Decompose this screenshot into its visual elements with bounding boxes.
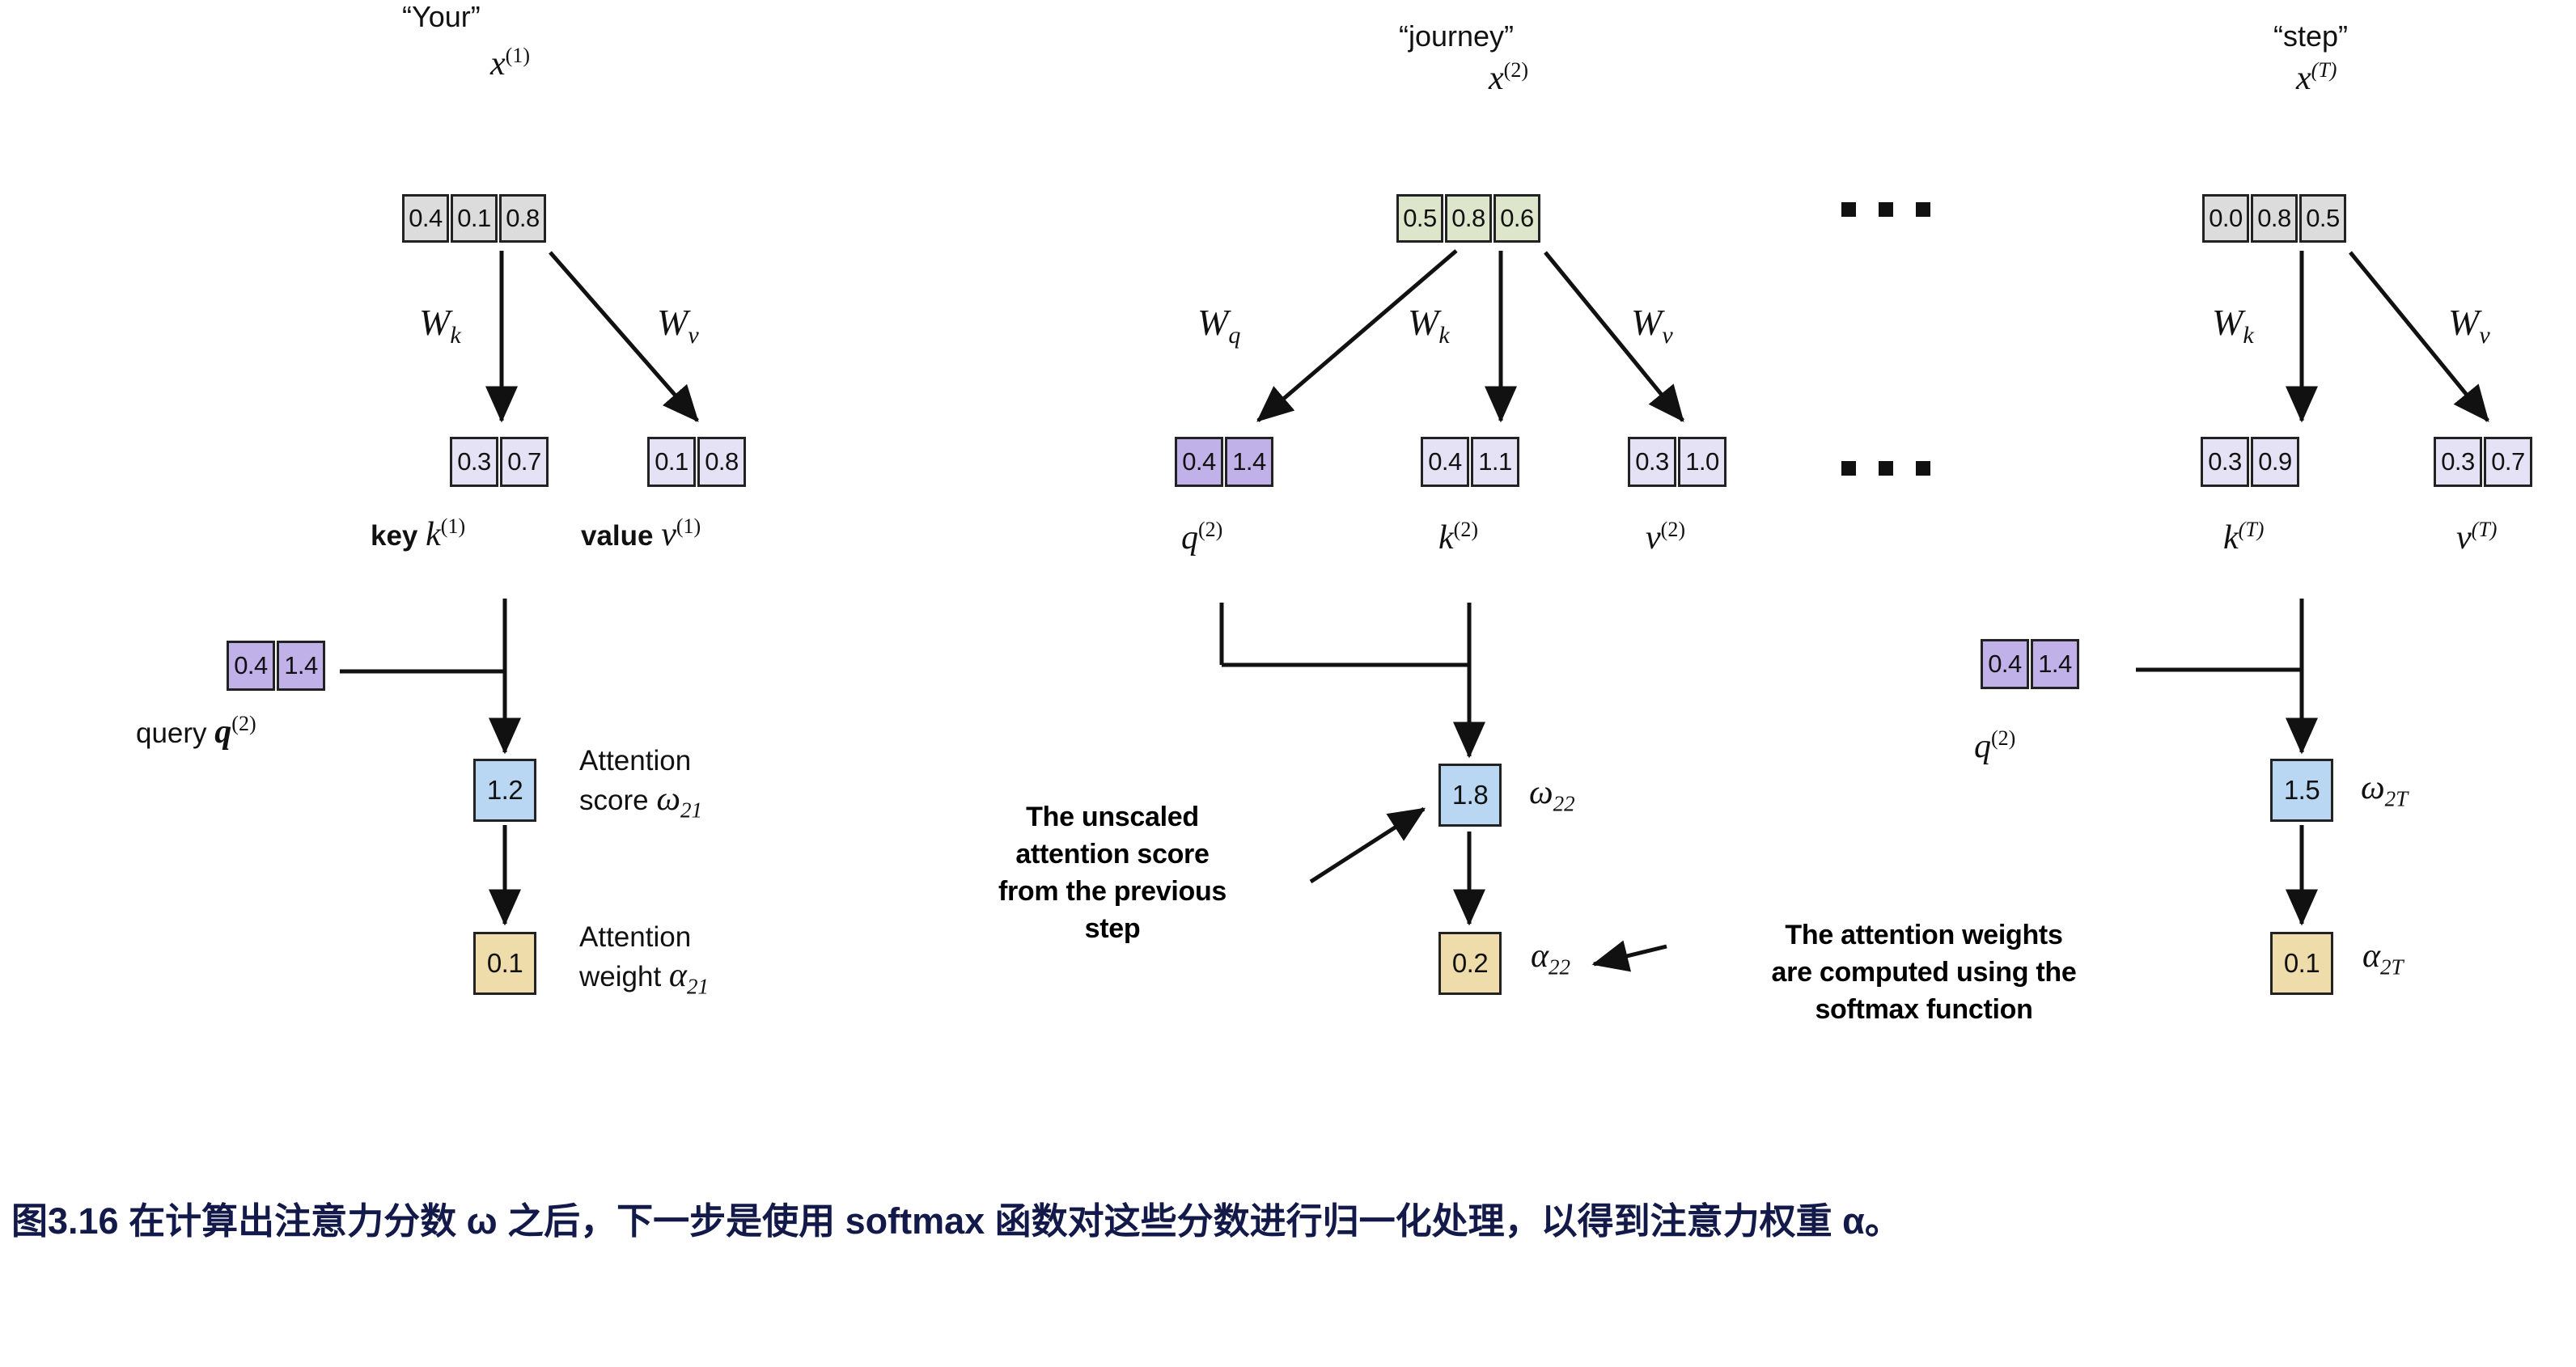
figure-canvas: “Your” x(1) 0.4 0.1 0.8 Wk Wv 0.3 0.7 0.… [0, 0, 2576, 1367]
attention-weight-box-3: 0.1 [2270, 932, 2333, 995]
attention-weight-box-1: 0.1 [473, 932, 536, 995]
value-vector-1: 0.1 0.8 [647, 437, 746, 487]
value-cell: 0.1 [647, 437, 696, 487]
input-cell: 0.4 [402, 194, 449, 243]
query-label-3: q(2) [1974, 726, 2015, 766]
weight-cell: 0.1 [473, 932, 536, 995]
query-vector-2: 0.4 1.4 [1175, 437, 1273, 487]
input-cell: 0.5 [2299, 194, 2346, 243]
key-cell: 0.3 [2201, 437, 2249, 487]
query-label-2: q(2) [1181, 518, 1222, 557]
input-cell: 0.5 [1396, 194, 1443, 243]
key-vector-3: 0.3 0.9 [2201, 437, 2299, 487]
ellipsis-dot [1879, 202, 1893, 217]
input-cell: 0.8 [1445, 194, 1492, 243]
key-label-3: k(T) [2223, 518, 2264, 557]
score-cell: 1.8 [1438, 764, 1502, 827]
weight-matrix-wk-3: Wk [2212, 301, 2254, 349]
input-symbol-1: x(1) [490, 44, 530, 83]
input-symbol-3: x(T) [2296, 58, 2337, 98]
ellipsis-dot [1879, 461, 1893, 476]
value-label-1: value v(1) [581, 514, 701, 554]
ellipsis-mid [1841, 461, 1930, 476]
weight-caption-1: Attention weight α21 [579, 921, 709, 1000]
attention-score-box-2: 1.8 [1438, 764, 1502, 827]
value-vector-3: 0.3 0.7 [2434, 437, 2532, 487]
query-vector-1: 0.4 1.4 [227, 641, 325, 691]
key-cell: 0.7 [500, 437, 549, 487]
weight-matrix-wk-2: Wk [1408, 301, 1450, 349]
omega-symbol-2: ω22 [1529, 773, 1575, 816]
value-cell: 0.7 [2484, 437, 2532, 487]
omega-symbol-1: ω21 [656, 781, 702, 818]
query-vector-3: 0.4 1.4 [1981, 639, 2079, 689]
weight-matrix-wq-2: Wq [1197, 301, 1240, 349]
input-cell: 0.0 [2202, 194, 2249, 243]
alpha-symbol-1: α21 [669, 957, 709, 994]
alpha-symbol-2: α22 [1531, 937, 1570, 980]
query-cell: 1.4 [277, 641, 325, 691]
value-cell: 0.3 [2434, 437, 2482, 487]
value-cell: 0.8 [697, 437, 746, 487]
token-label-3: “step” [2273, 19, 2348, 53]
value-label-2: v(2) [1646, 518, 1685, 557]
figure-caption: 图3.16 在计算出注意力分数 ω 之后，下一步是使用 softmax 函数对这… [11, 1194, 2544, 1249]
ellipsis-dot [1841, 202, 1856, 217]
weight-matrix-wv-2: Wv [1631, 301, 1673, 349]
ellipsis-dot [1841, 461, 1856, 476]
score-cell: 1.2 [473, 759, 536, 822]
input-cell: 0.8 [2251, 194, 2298, 243]
input-vector-3: 0.0 0.8 0.5 [2202, 194, 2346, 243]
key-cell: 1.1 [1471, 437, 1519, 487]
score-caption-1: Attention score ω21 [579, 744, 702, 823]
key-label-2: k(2) [1438, 518, 1478, 557]
attention-score-box-3: 1.5 [2270, 759, 2333, 822]
value-cell: 1.0 [1678, 437, 1727, 487]
connector-layer [0, 0, 2576, 1367]
token-label-1: “Your” [402, 0, 481, 34]
query-cell: 0.4 [1175, 437, 1223, 487]
weight-cell: 0.1 [2270, 932, 2333, 995]
key-label-1: key k(1) [371, 514, 465, 554]
attention-weight-box-2: 0.2 [1438, 932, 1502, 995]
ellipsis-dot [1916, 461, 1930, 476]
score-cell: 1.5 [2270, 759, 2333, 822]
value-label-3: v(T) [2456, 518, 2497, 557]
value-vector-2: 0.3 1.0 [1628, 437, 1727, 487]
ellipsis-top [1841, 202, 1930, 217]
input-cell: 0.8 [499, 194, 546, 243]
annotation-unscaled-score: The unscaled attention score from the pr… [922, 799, 1303, 948]
omega-symbol-3: ω2T [2361, 768, 2408, 811]
input-vector-2: 0.5 0.8 0.6 [1396, 194, 1540, 243]
attention-score-box-1: 1.2 [473, 759, 536, 822]
query-cell: 1.4 [2031, 639, 2079, 689]
input-cell: 0.1 [451, 194, 498, 243]
key-vector-2: 0.4 1.1 [1421, 437, 1519, 487]
weight-matrix-wk-1: Wk [419, 301, 461, 349]
alpha-symbol-3: α2T [2362, 937, 2404, 980]
token-label-2: “journey” [1399, 19, 1514, 53]
ellipsis-dot [1916, 202, 1930, 217]
input-vector-1: 0.4 0.1 0.8 [402, 194, 546, 243]
weight-matrix-wv-3: Wv [2448, 301, 2490, 349]
key-vector-1: 0.3 0.7 [450, 437, 549, 487]
query-label-1: query q(2) [136, 712, 256, 751]
key-cell: 0.4 [1421, 437, 1469, 487]
query-cell: 0.4 [227, 641, 275, 691]
query-cell: 0.4 [1981, 639, 2029, 689]
annotation-softmax: The attention weights are computed using… [1681, 917, 2167, 1029]
input-cell: 0.6 [1493, 194, 1540, 243]
key-cell: 0.9 [2251, 437, 2299, 487]
weight-cell: 0.2 [1438, 932, 1502, 995]
input-symbol-2: x(2) [1489, 58, 1528, 98]
weight-matrix-wv-1: Wv [657, 301, 699, 349]
key-cell: 0.3 [450, 437, 498, 487]
query-cell: 1.4 [1225, 437, 1273, 487]
value-cell: 0.3 [1628, 437, 1676, 487]
